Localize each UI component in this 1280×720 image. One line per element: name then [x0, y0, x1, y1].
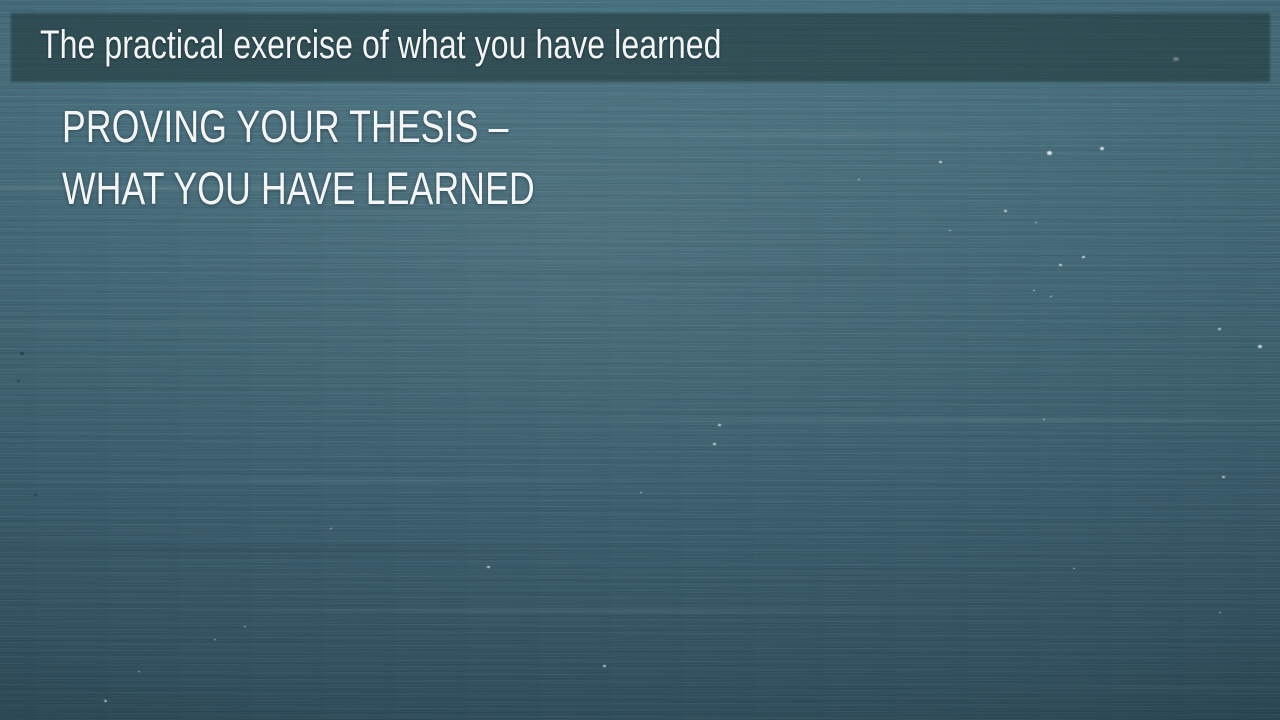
- slide-title: PROVING YOUR THESIS – WHAT YOU HAVE LEAR…: [62, 96, 661, 220]
- slide-title-line-1: PROVING YOUR THESIS –: [62, 96, 535, 158]
- slide-title-line-2: WHAT YOU HAVE LEARNED: [62, 158, 535, 220]
- presentation-slide: The practical exercise of what you have …: [0, 0, 1280, 720]
- slide-subtitle: The practical exercise of what you have …: [40, 19, 721, 71]
